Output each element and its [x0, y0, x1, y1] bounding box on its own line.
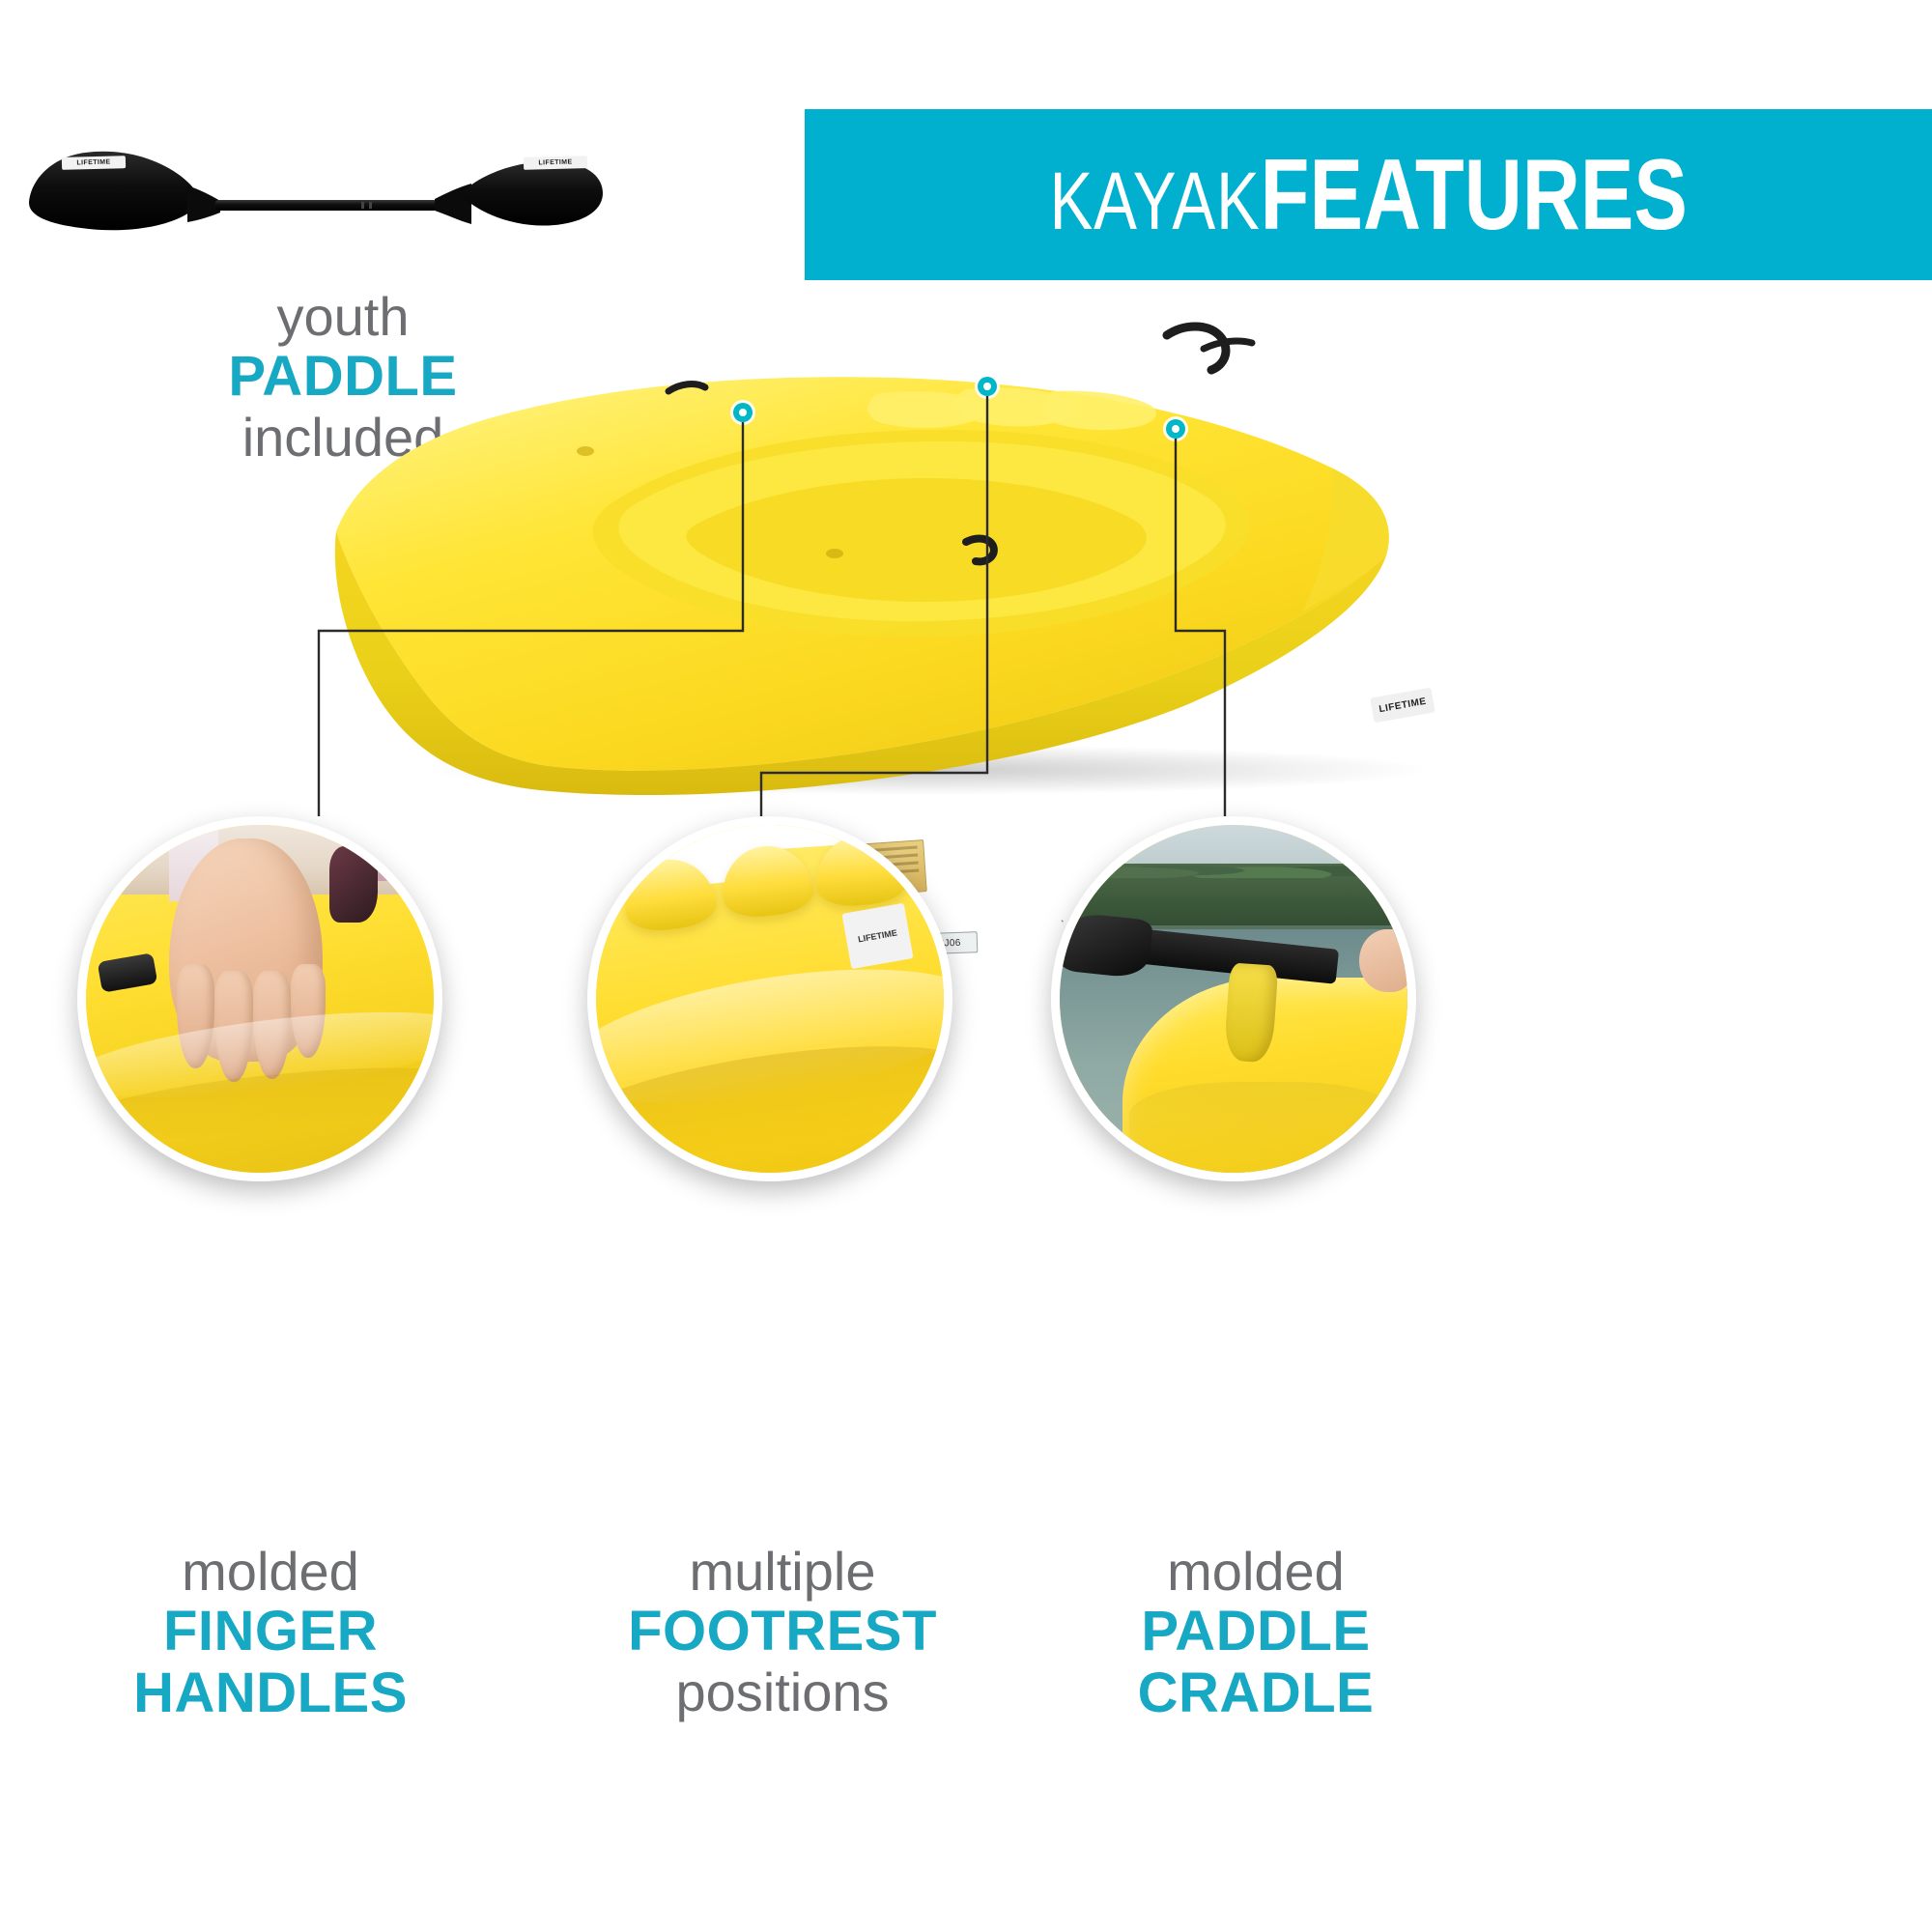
kayak-features-banner: KAYAKFEATURES	[805, 109, 1932, 280]
footrest-photo[interactable]: LIFETIME	[587, 816, 952, 1181]
footrest-marker-dot[interactable]	[978, 377, 997, 396]
paddle-icon	[21, 135, 611, 232]
kayak-hero-image: Wave LPE1S756J06 LIFETIME	[290, 314, 1536, 797]
kayak-illustration	[290, 314, 1536, 797]
youth-paddle-image: LIFETIME LIFETIME	[21, 135, 611, 232]
paddle-cradle-photo[interactable]	[1051, 816, 1416, 1181]
marker-core	[1172, 425, 1179, 433]
lifetime-badge-inset: LIFETIME	[842, 903, 914, 969]
caption-2-line2: FOOTREST	[570, 1602, 995, 1661]
caption-1-line2: FINGER	[58, 1602, 483, 1661]
paddle-brand-label-right: LIFETIME	[524, 156, 587, 170]
caption-3-line3: CRADLE	[1043, 1663, 1468, 1722]
caption-3-line2: PADDLE	[1043, 1602, 1468, 1661]
finger-handles-photo[interactable]	[77, 816, 442, 1181]
photo-footrest-content: LIFETIME	[596, 825, 944, 1173]
caption-3-line1: molded	[1043, 1543, 1468, 1600]
caption-1-line3: HANDLES	[58, 1663, 483, 1722]
photo-finger-handles-content	[86, 825, 434, 1173]
feature-caption-footrest: multiple FOOTREST positions	[570, 1541, 995, 1722]
banner-title-bold: FEATURES	[1260, 139, 1687, 251]
caption-2-line3: positions	[570, 1663, 995, 1720]
feature-caption-finger-handles: molded FINGER HANDLES	[58, 1541, 483, 1724]
infographic-canvas: KAYAKFEATURES	[0, 0, 1932, 1932]
marker-core	[983, 383, 991, 390]
banner-title: KAYAKFEATURES	[1049, 145, 1687, 245]
marker-core	[739, 409, 747, 416]
caption-2-line1: multiple	[570, 1543, 995, 1600]
banner-title-light: KAYAK	[1049, 156, 1260, 246]
caption-1-line1: molded	[58, 1543, 483, 1600]
feature-caption-paddle-cradle: molded PADDLE CRADLE	[1043, 1541, 1468, 1724]
photo-paddle-cradle-content	[1060, 825, 1407, 1173]
paddle-cradle-marker-dot[interactable]	[1166, 419, 1185, 439]
finger-handles-marker-dot[interactable]	[733, 403, 753, 422]
paddle-brand-label-left: LIFETIME	[62, 156, 126, 170]
